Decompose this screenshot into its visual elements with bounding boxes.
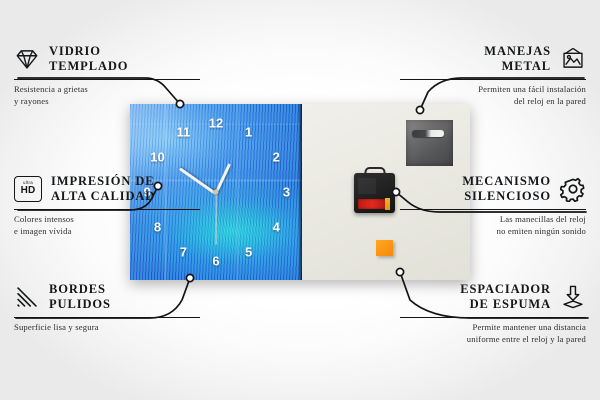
feature-title: BORDES PULIDOS	[49, 282, 200, 312]
feature-mecanismo-silencioso[interactable]: MECANISMO SILENCIOSO Las manecillas del …	[400, 174, 586, 237]
feature-vidrio-templado[interactable]: VIDRIO TEMPLADO Resistencia a grietas y …	[14, 44, 200, 107]
movement-panel	[358, 178, 376, 194]
clock-numeral: 7	[180, 245, 187, 258]
feature-espaciador-espuma[interactable]: ESPACIADOR DE ESPUMA Permite mantener un…	[400, 282, 586, 345]
feature-title: MANEJAS METAL	[400, 44, 551, 74]
feature-header: MANEJAS METAL	[400, 44, 586, 74]
feature-header: MECANISMO SILENCIOSO	[400, 174, 586, 204]
diamond-icon	[14, 46, 40, 72]
feature-header: BORDES PULIDOS	[14, 282, 200, 312]
feature-divider	[14, 79, 200, 81]
gear-icon	[560, 176, 586, 202]
clock-numeral: 5	[245, 245, 252, 258]
feature-title: VIDRIO TEMPLADO	[49, 44, 200, 74]
feature-description: Superficie lisa y segura	[14, 322, 200, 334]
clock-numeral: 10	[150, 150, 164, 163]
clock-numeral: 2	[273, 150, 280, 163]
feature-impresion-alta-calidad[interactable]: ultra HD IMPRESIÓN DE ALTA CALIDAD Color…	[14, 174, 200, 237]
feature-header: ESPACIADOR DE ESPUMA	[400, 282, 586, 312]
battery	[358, 199, 389, 209]
feature-description: Resistencia a grietas y rayones	[14, 84, 200, 107]
clock-numeral: 4	[273, 221, 280, 234]
feature-title: ESPACIADOR DE ESPUMA	[400, 282, 551, 312]
quartz-movement-box	[354, 173, 395, 213]
feature-title: IMPRESIÓN DE ALTA CALIDAD	[51, 174, 200, 204]
feature-header: VIDRIO TEMPLADO	[14, 44, 200, 74]
feature-title: MECANISMO SILENCIOSO	[400, 174, 551, 204]
foam-spacer-arrow-icon	[560, 284, 586, 310]
feature-description: Permite mantener una distancia uniforme …	[400, 322, 586, 345]
clock-numeral: 6	[212, 254, 219, 267]
metal-hanger-plate	[406, 120, 453, 166]
feature-divider	[400, 317, 586, 319]
feature-divider	[14, 209, 200, 211]
clock-numeral: 1	[245, 126, 252, 139]
hanger-slot	[412, 130, 444, 137]
ultra-hd-badge-icon: ultra HD	[14, 176, 42, 202]
battery-terminal	[385, 198, 390, 210]
clock-numeral: 3	[283, 186, 290, 199]
clock-second-hand	[215, 193, 216, 245]
picture-frame-icon	[560, 46, 586, 72]
foam-spacer	[376, 240, 393, 256]
hd-badge-main-text: HD	[21, 186, 36, 196]
feature-header: ultra HD IMPRESIÓN DE ALTA CALIDAD	[14, 174, 200, 204]
clock-numeral: 11	[176, 126, 190, 139]
hanger-loop	[364, 167, 385, 178]
infographic-canvas: 12 1 2 3 4 5 6 7 8 9 10 11	[0, 0, 600, 400]
feature-description: Colores intensos e imagen vívida	[14, 214, 200, 237]
feature-manejas-metal[interactable]: MANEJAS METAL Permiten una fácil instala…	[400, 44, 586, 107]
feature-divider	[14, 317, 200, 319]
polished-edge-icon	[14, 284, 40, 310]
feature-description: Las manecillas del reloj no emiten ningú…	[400, 214, 586, 237]
feature-divider	[400, 209, 586, 211]
feature-description: Permiten una fácil instalación del reloj…	[400, 84, 586, 107]
feature-divider	[400, 79, 586, 81]
feature-bordes-pulidos[interactable]: BORDES PULIDOS Superficie lisa y segura	[14, 282, 200, 334]
clock-numeral: 12	[209, 117, 223, 130]
clock-center-hub	[214, 190, 219, 195]
